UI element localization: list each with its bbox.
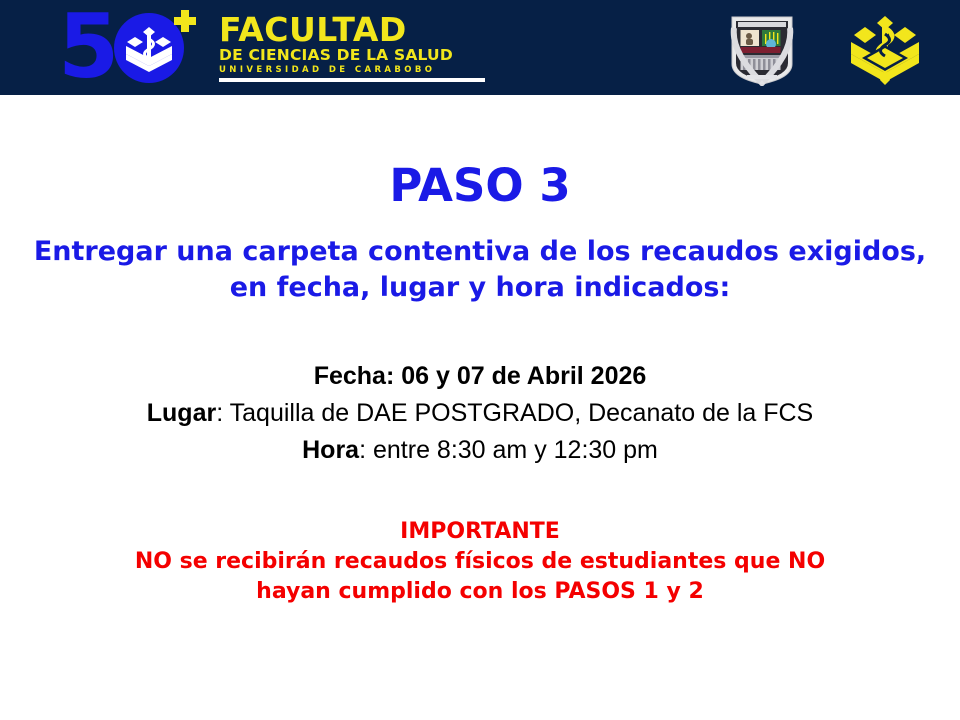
warning-heading: IMPORTANTE — [0, 517, 960, 547]
anniversary-plus-icon — [174, 10, 196, 32]
detail-row-fecha: Fecha: 06 y 07 de Abril 2026 — [0, 358, 960, 395]
detail-value-fecha: 06 y 07 de Abril 2026 — [394, 362, 646, 390]
detail-value-lugar: : Taquilla de DAE POSTGRADO, Decanato de… — [216, 399, 813, 427]
wordmark-underline-rule — [219, 78, 485, 82]
faculty-wordmark: FACULTAD DE CIENCIAS DE LA SALUD UNIVERS… — [219, 14, 487, 82]
detail-label-hora: Hora — [302, 436, 359, 464]
detail-row-lugar: Lugar: Taquilla de DAE POSTGRADO, Decana… — [0, 395, 960, 432]
lead-instruction-line-1: Entregar una carpeta contentiva de los r… — [18, 234, 942, 270]
wordmark-line-universidad: UNIVERSIDAD DE CARABOBO — [219, 65, 487, 76]
important-warning-block: IMPORTANTE NO se recibirán recaudos físi… — [0, 517, 960, 607]
detail-label-lugar: Lugar — [147, 399, 216, 427]
wordmark-line-ciencias-salud: DE CIENCIAS DE LA SALUD — [219, 47, 487, 64]
anniversary-digit-five: 5 — [58, 12, 115, 82]
warning-line-2: hayan cumplido con los PASOS 1 y 2 — [0, 577, 960, 607]
header-banner: 5 — [0, 0, 960, 95]
page-title: PASO 3 — [0, 160, 960, 212]
slide: 5 — [0, 0, 960, 720]
lead-instruction-line-2: en fecha, lugar y hora indicados: — [18, 270, 942, 306]
detail-label-fecha: Fecha: — [314, 362, 395, 390]
wordmark-line-facultad: FACULTAD — [219, 14, 487, 46]
lead-instruction: Entregar una carpeta contentiva de los r… — [0, 234, 960, 306]
anniversary-50-logo: 5 — [58, 8, 208, 86]
detail-value-hora: : entre 8:30 am y 12:30 pm — [359, 436, 658, 464]
universidad-carabobo-crest-icon — [729, 14, 795, 86]
detail-row-hora: Hora: entre 8:30 am y 12:30 pm — [0, 432, 960, 469]
slide-body: PASO 3 Entregar una carpeta contentiva d… — [0, 95, 960, 720]
warning-line-1: NO se recibirán recaudos físicos de estu… — [0, 547, 960, 577]
details-block: Fecha: 06 y 07 de Abril 2026 Lugar: Taqu… — [0, 358, 960, 469]
fcs-book-caduceus-emblem-icon — [846, 12, 924, 86]
